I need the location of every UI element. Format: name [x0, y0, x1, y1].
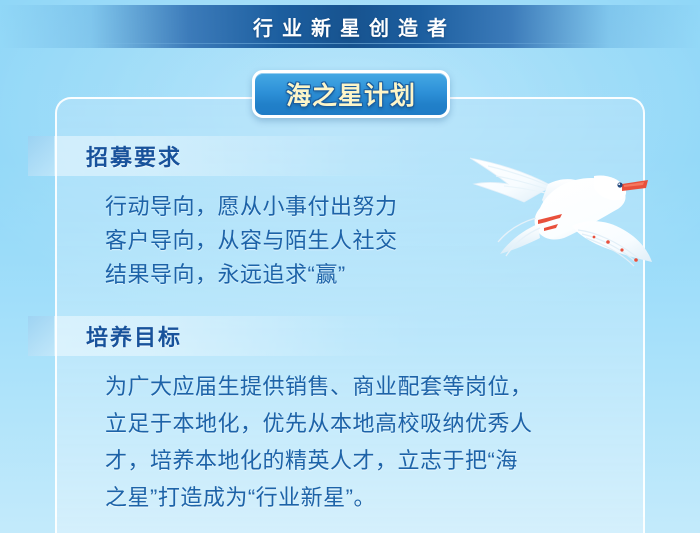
top-banner: 行业新星创造者 — [0, 5, 700, 48]
plan-badge[interactable]: 海之星计划 — [252, 70, 450, 118]
body-line: 结果导向，永远追求“赢” — [105, 258, 625, 292]
body-line: 客户导向，从容与陌生人社交 — [105, 224, 625, 258]
section-body-recruitment: 行动导向，愿从小事付出努力 客户导向，从容与陌生人社交 结果导向，永远追求“赢” — [105, 190, 625, 292]
body-line: 之星”打造成为“行业新星”。 — [105, 479, 625, 516]
plan-badge-label: 海之星计划 — [286, 76, 416, 112]
banner-title: 行业新星创造者 — [244, 12, 456, 41]
body-line: 才，培养本地化的精英人才，立志于把“海 — [105, 442, 625, 479]
section-body-training: 为广大应届生提供销售、商业配套等岗位， 立足于本地化，优先从本地高校吸纳优秀人 … — [105, 368, 625, 516]
section-accent-block — [28, 316, 54, 356]
poster-root: 行业新星创造者 海之星计划 — [0, 0, 700, 533]
body-line: 立足于本地化，优先从本地高校吸纳优秀人 — [105, 405, 625, 442]
section-heading-label: 培养目标 — [86, 320, 182, 352]
section-heading-label: 招募要求 — [86, 140, 182, 172]
section-accent-block — [28, 136, 54, 176]
section-header-recruitment: 招募要求 — [28, 136, 428, 176]
section-header-training: 培养目标 — [28, 316, 428, 356]
body-line: 为广大应届生提供销售、商业配套等岗位， — [105, 368, 625, 405]
body-line: 行动导向，愿从小事付出努力 — [105, 190, 625, 224]
